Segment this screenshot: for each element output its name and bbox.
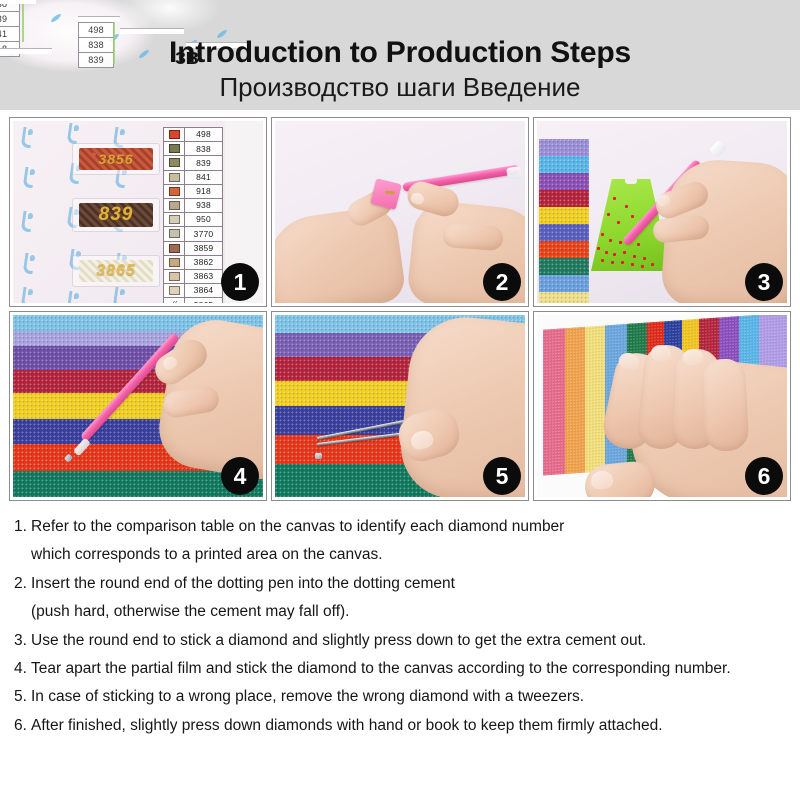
bag-label: 3856 [73,151,159,167]
color-code-row: 3863 [164,270,222,284]
step-badge: 5 [483,457,521,495]
color-code-row: 839 [164,156,222,170]
symbol-cell [164,242,185,255]
color-code-row: 950 [164,213,222,227]
color-code-row: 841 [164,171,222,185]
code-number: 918 [185,185,222,198]
step-badge: 1 [221,263,259,301]
color-code-row: //3865 [164,298,222,303]
color-code-row: 838 [164,142,222,156]
code-number: 498 [185,128,222,141]
instruction-number: 1. [14,516,31,537]
symbol-cell [164,171,185,184]
step-panel-2: 2 [271,117,529,307]
diamond-bag: 3856 [73,144,159,174]
code-number: 950 [185,213,222,226]
symbol-cell [164,128,185,141]
code-number: 3862 [185,256,222,269]
code-number: 938 [185,199,222,212]
instruction-continuation: which corresponds to a printed area on t… [31,544,786,565]
step-panel-5: 5 [271,311,529,501]
step-panel-1: 3856 839 3865 498 838 839 841 918 938 95… [9,117,267,307]
canvas-strip [539,139,589,303]
code-number: 3859 [185,242,222,255]
instruction-text: After finished, slightly press down diam… [31,715,663,736]
color-code-row: 938 [164,199,222,213]
color-code-row: 918 [164,185,222,199]
bag-label: 839 [73,204,159,226]
instructions-list: 1. Refer to the comparison table on the … [0,508,800,743]
instruction-number: 6. [14,715,31,736]
title-ghost-fragment: зв [175,44,198,70]
symbol-cell [164,199,185,212]
instruction-text: Use the round end to stick a diamond and… [31,630,646,651]
instruction-item: 3. Use the round end to stick a diamond … [14,630,786,651]
instruction-text: In case of sticking to a wrong place, re… [31,686,584,707]
title-block: Introduction to Production Steps зв Прои… [0,0,800,110]
tray-notch [625,179,637,184]
code-number: 838 [185,142,222,155]
finger [442,223,504,251]
instruction-number: 2. [14,573,31,594]
symbol-cell [164,213,185,226]
bag-label: 3865 [73,262,159,280]
color-code-chart: 498 838 839 841 918 938 950 3770 3859 38… [163,127,223,303]
code-number: 3864 [185,284,222,297]
code-number: 839 [185,156,222,169]
symbol-cell [164,227,185,240]
code-number: 3770 [185,227,222,240]
instruction-item: 6. After finished, slightly press down d… [14,715,786,736]
instruction-item: 2. Insert the round end of the dotting p… [14,573,786,594]
code-number: 3863 [185,270,222,283]
step-badge: 3 [745,263,783,301]
step-badge: 4 [221,457,259,495]
symbol-cell [164,156,185,169]
step-panel-3: 3 [533,117,791,307]
instruction-item: 5. In case of sticking to a wrong place,… [14,686,786,707]
finger [701,358,750,452]
step-panel-6: 6 [533,311,791,501]
color-code-row: 3770 [164,227,222,241]
code-number: 841 [185,171,222,184]
steps-grid: 3856 839 3865 498 838 839 841 918 938 95… [9,117,791,501]
instruction-number: 5. [14,686,31,707]
page-subtitle: Производство шаги Введение [0,72,800,103]
diamond-bag: 839 [73,199,159,231]
diamond-in-tweezers [315,453,322,459]
header-band: 38 39 41 18 498 838 839 Introduction to … [0,0,800,110]
symbol-cell [164,256,185,269]
instruction-text: Refer to the comparison table on the can… [31,516,564,537]
instruction-number: 3. [14,630,31,651]
step-badge: 6 [745,457,783,495]
symbol-cell [164,270,185,283]
symbol-cell [164,185,185,198]
symbol-cell [164,142,185,155]
fingernail [683,349,703,365]
step-panel-4: 4 [9,311,267,501]
symbol-cell: // [164,298,185,303]
step-badge: 2 [483,263,521,301]
instruction-continuation: (push hard, otherwise the cement may fal… [31,601,786,622]
color-code-row: 3859 [164,242,222,256]
color-code-row: 498 [164,128,222,142]
color-code-row: 3864 [164,284,222,298]
page-title: Introduction to Production Steps [0,36,800,70]
color-code-row: 3862 [164,256,222,270]
instruction-text: Insert the round end of the dotting pen … [31,573,455,594]
pen-cap [506,166,522,180]
instruction-item: 4. Tear apart the partial film and stick… [14,658,786,679]
instruction-text: Tear apart the partial film and stick th… [31,658,731,679]
instruction-number: 4. [14,658,31,679]
code-number: 3865 [185,298,222,303]
diamond-bag: 3865 [73,256,159,286]
symbol-cell [164,284,185,297]
instruction-item: 1. Refer to the comparison table on the … [14,516,786,537]
